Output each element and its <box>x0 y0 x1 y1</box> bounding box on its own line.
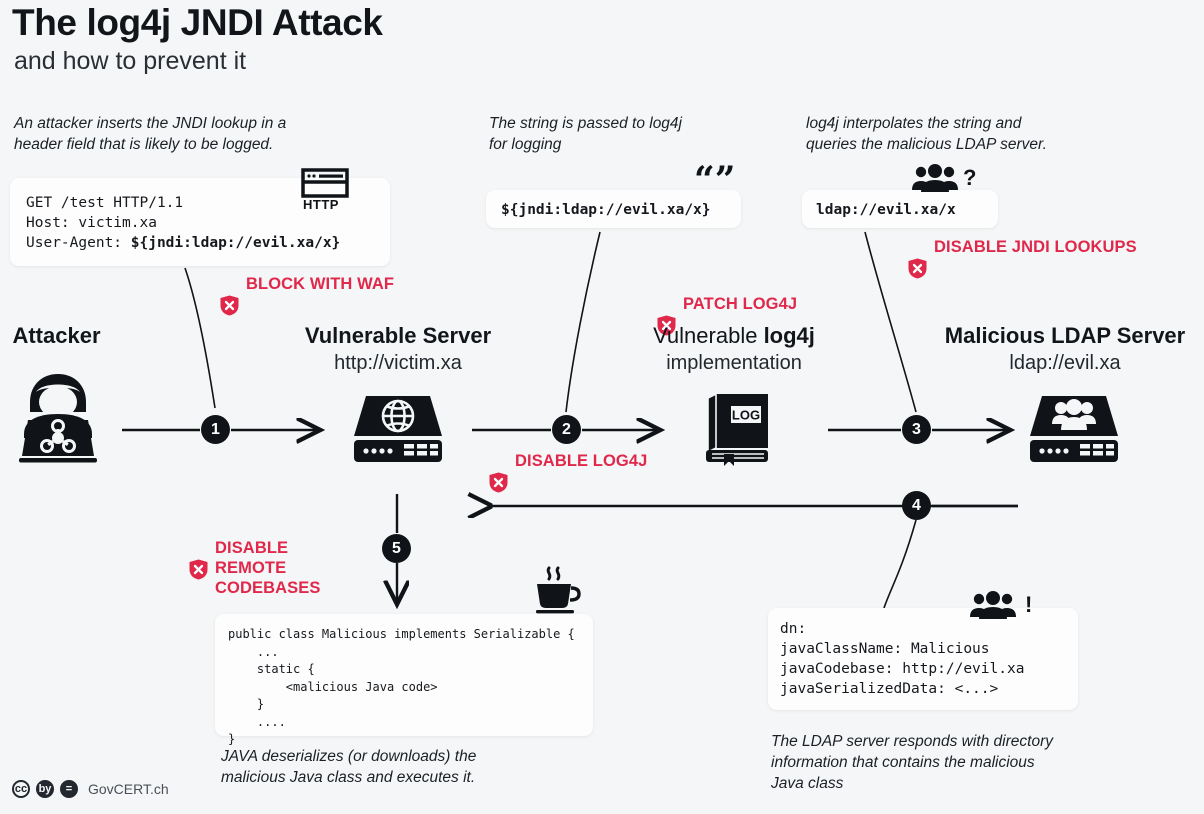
mitigation-disable-remote-codebases: DISABLE REMOTE CODEBASES <box>189 538 320 600</box>
coffee-cup-icon <box>531 566 583 614</box>
caption-ldap-responds: The LDAP server responds with directory … <box>771 731 1053 794</box>
step-badge-3: 3 <box>902 415 931 444</box>
shield-x-icon <box>189 539 208 600</box>
step-badge-2: 2 <box>552 415 581 444</box>
mitigation-disable-log4j: DISABLE LOG4J <box>489 451 647 513</box>
footer-org-label: GovCERT.ch <box>88 781 169 797</box>
ldap-response-marker: ! <box>1025 592 1032 618</box>
cc-nd-icon: = <box>60 780 78 798</box>
ldap-response-code: dn: javaClassName: Malicious javaCodebas… <box>780 619 1024 699</box>
people-group-icon <box>968 592 1018 620</box>
cc-license-icon: cc <box>12 780 30 798</box>
caption-java-deserialize: JAVA deserializes (or downloads) the mal… <box>221 746 476 788</box>
shield-x-icon <box>489 452 508 513</box>
mitigation-label: DISABLE LOG4J <box>515 451 647 471</box>
step-badge-4: 4 <box>902 491 931 520</box>
footer: cc by = GovCERT.ch <box>12 780 169 798</box>
cc-by-icon: by <box>36 780 54 798</box>
java-class-code: public class Malicious implements Serial… <box>228 626 575 749</box>
step-badge-1: 1 <box>201 415 230 444</box>
mitigation-label: DISABLE REMOTE CODEBASES <box>215 538 320 598</box>
step-badge-5: 5 <box>382 534 411 563</box>
